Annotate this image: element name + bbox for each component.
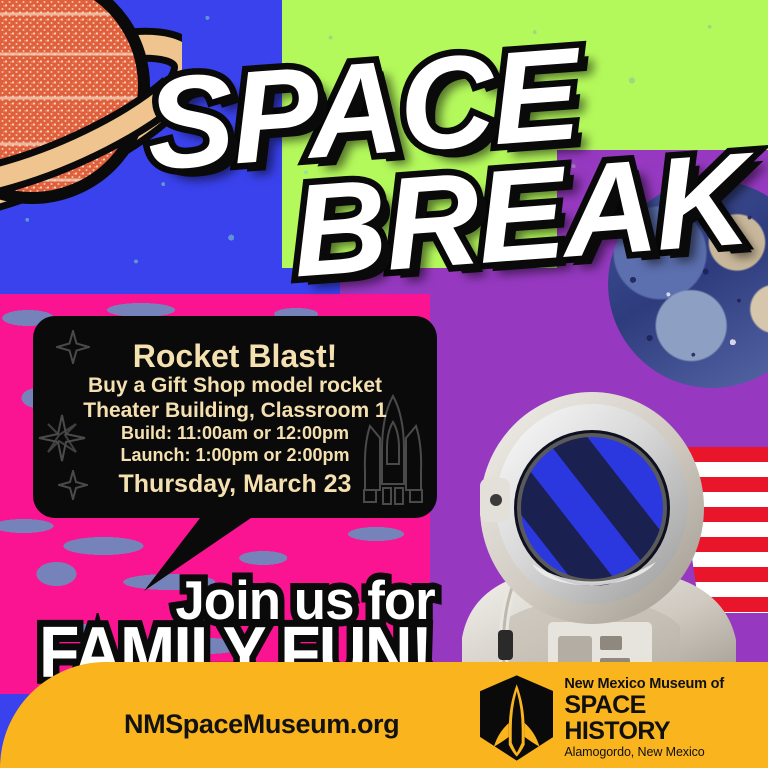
website-url[interactable]: NMSpaceMuseum.org xyxy=(124,709,399,740)
headline-group: SPACE BREAK xyxy=(0,34,768,294)
speech-bubble-content: Rocket Blast! Buy a Gift Shop model rock… xyxy=(33,316,437,518)
logo-line-3: Alamogordo, New Mexico xyxy=(564,746,756,759)
footer-bar: NMSpaceMuseum.org New Mexico Museum of S… xyxy=(0,662,768,768)
bubble-title: Rocket Blast! xyxy=(33,339,437,373)
poster-canvas: SPACE BREAK xyxy=(0,0,768,768)
logo-line-2: SPACE HISTORY xyxy=(564,693,756,744)
museum-logo: New Mexico Museum of SPACE HISTORY Alamo… xyxy=(480,674,756,762)
museum-logo-text: New Mexico Museum of SPACE HISTORY Alamo… xyxy=(564,677,756,759)
bubble-subtitle: Buy a Gift Shop model rocket xyxy=(33,374,437,398)
logo-line-1: New Mexico Museum of xyxy=(564,677,756,692)
headline-break: BREAK xyxy=(288,139,751,290)
bubble-build-time: Build: 11:00am or 12:00pm xyxy=(33,423,437,445)
bubble-location: Theater Building, Classroom 1 xyxy=(33,399,437,423)
bubble-date: Thursday, March 23 xyxy=(33,470,437,499)
bubble-launch-time: Launch: 1:00pm or 2:00pm xyxy=(33,445,437,467)
rocket-hexagon-logo-icon xyxy=(480,675,553,761)
